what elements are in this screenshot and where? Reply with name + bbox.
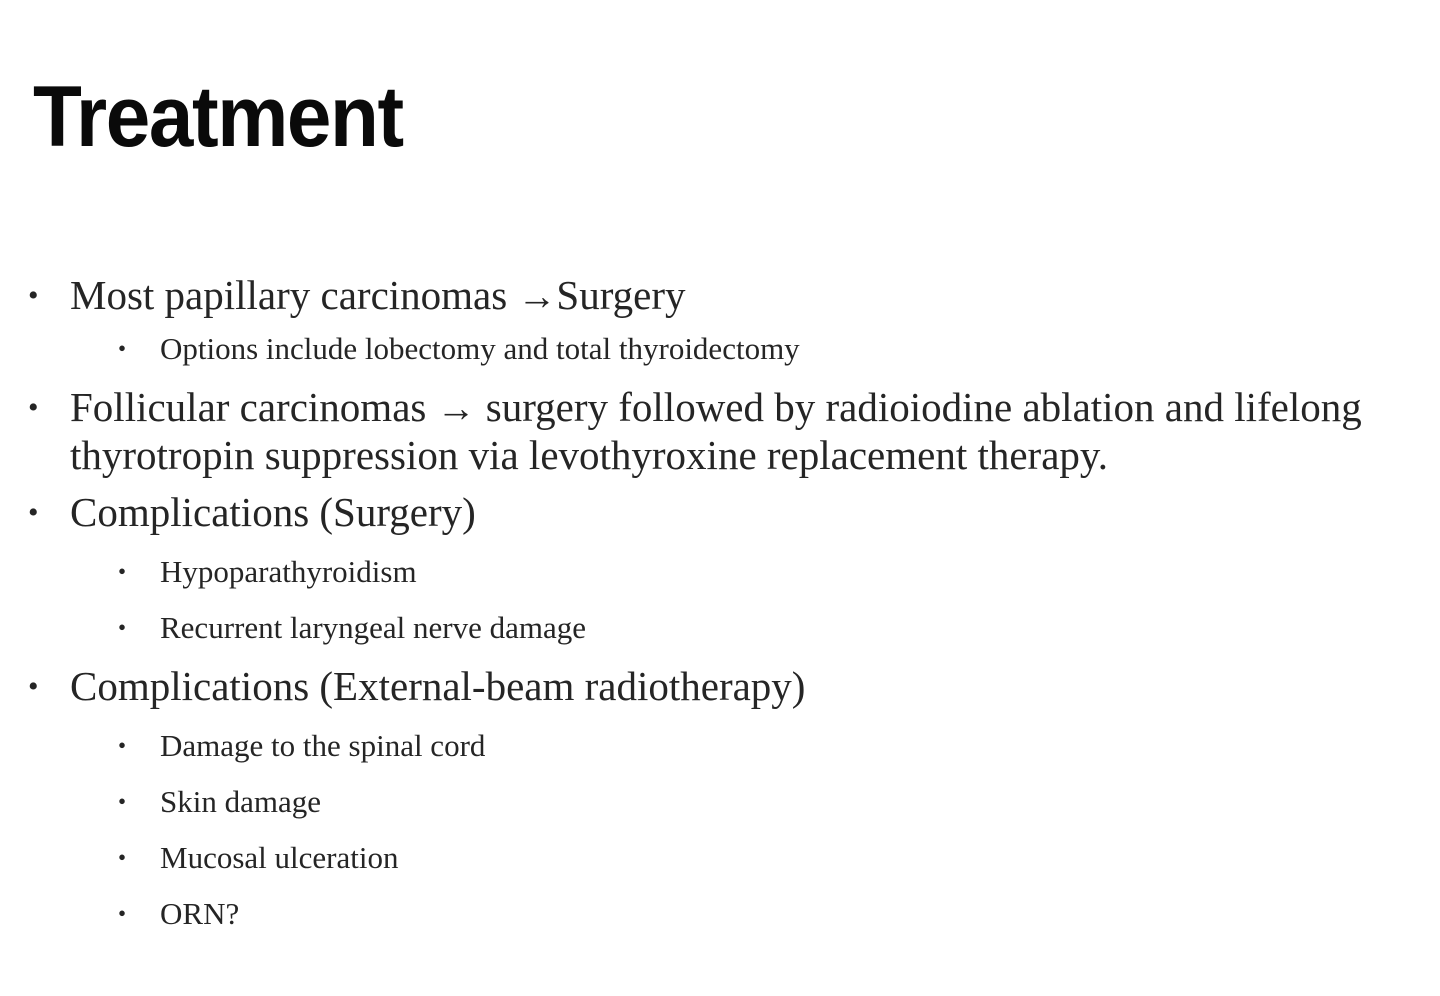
list-item-label: Mucosal ulceration xyxy=(160,839,1440,876)
page-title: Treatment xyxy=(33,72,403,162)
list-item-label: Complications (External-beam radiotherap… xyxy=(70,663,1440,710)
list-item: • Skin damage xyxy=(0,783,1440,820)
list-item: • Complications (External-beam radiother… xyxy=(0,663,1440,710)
list-item: • Complications (Surgery) xyxy=(0,489,1440,536)
slide-canvas: Treatment • Most papillary carcinomas →S… xyxy=(0,0,1440,996)
list-item-label: Skin damage xyxy=(160,783,1440,820)
list-item-label: Recurrent laryngeal nerve damage xyxy=(160,609,1440,646)
bullet-glyph-icon: • xyxy=(118,330,160,367)
list-item-label: Complications (Surgery) xyxy=(70,489,1440,536)
list-item: • Mucosal ulceration xyxy=(0,839,1440,876)
list-item-label: Options include lobectomy and total thyr… xyxy=(160,330,1440,367)
list-item-label: Follicular carcinomas → surgery followed… xyxy=(70,384,1440,479)
list-item: • Damage to the spinal cord xyxy=(0,727,1440,764)
list-item: • Hypoparathyroidism xyxy=(0,553,1440,590)
list-item: • Options include lobectomy and total th… xyxy=(0,330,1440,367)
list-item-label: ORN? xyxy=(160,895,1440,932)
list-item: • Recurrent laryngeal nerve damage xyxy=(0,609,1440,646)
bullet-glyph-icon: • xyxy=(28,489,70,536)
list-item-label: Damage to the spinal cord xyxy=(160,727,1440,764)
list-item: • Most papillary carcinomas →Surgery xyxy=(0,272,1440,320)
list-item-label: Hypoparathyroidism xyxy=(160,553,1440,590)
list-item: • ORN? xyxy=(0,895,1440,932)
bullet-glyph-icon: • xyxy=(28,663,70,710)
bullet-glyph-icon: • xyxy=(118,839,160,876)
bullet-glyph-icon: • xyxy=(118,727,160,764)
bullet-glyph-icon: • xyxy=(28,384,70,431)
bullet-glyph-icon: • xyxy=(118,609,160,646)
arrow-right-icon: → xyxy=(437,387,476,430)
bullet-glyph-icon: • xyxy=(118,783,160,820)
bullet-glyph-icon: • xyxy=(118,553,160,590)
arrow-right-icon: → xyxy=(517,275,556,318)
bullet-glyph-icon: • xyxy=(118,895,160,932)
list-item-label: Most papillary carcinomas →Surgery xyxy=(70,272,1440,320)
bullet-glyph-icon: • xyxy=(28,272,70,319)
bullet-list: • Most papillary carcinomas →Surgery • O… xyxy=(0,272,1440,932)
list-item: • Follicular carcinomas → surgery follow… xyxy=(0,384,1440,479)
